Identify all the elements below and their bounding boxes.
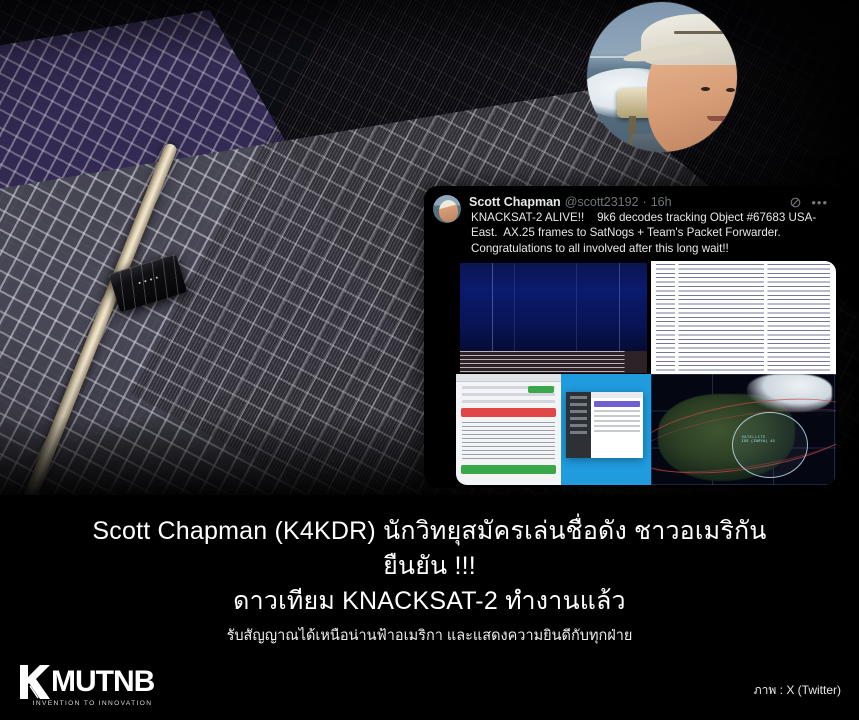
eye-right (726, 88, 735, 92)
caption-subline: รับสัญญาณได้เหนือน่านฟ้าอเมริกา และแสดงค… (0, 619, 859, 646)
caption-line-2: ยืนยัน !!! (0, 549, 859, 584)
image-credit: ภาพ : X (Twitter) (754, 681, 841, 700)
tweet-actions: ••• (789, 195, 828, 209)
satnogs-sidebar (566, 392, 591, 459)
satnogs-header (591, 392, 643, 398)
web-submit-button (528, 386, 554, 393)
caption-line-1: Scott Chapman (K4KDR) นักวิทยุสมัครเล่นช… (0, 495, 859, 549)
hexdump-terminal-pane (651, 261, 836, 374)
sdr-waterfall-pane (456, 261, 651, 374)
baseball-cap (641, 14, 737, 65)
kmutnb-logo: MUTNB INVENTION TO INNOVATION (20, 665, 154, 707)
waterfall-spectrum (460, 263, 647, 351)
web-row (462, 393, 555, 396)
cap-logo (674, 31, 725, 34)
web-log-lines (462, 422, 555, 460)
apps-pane (456, 374, 651, 485)
web-alert-error (461, 408, 556, 417)
satellite-footprint-circle (732, 412, 808, 478)
packet-forwarder-console (456, 374, 561, 485)
waterfall-console-strip (460, 351, 647, 372)
tweet-handle[interactable]: @scott23192 (565, 195, 639, 210)
eye-left (701, 87, 710, 91)
tweet-card[interactable]: Scott Chapman @scott23192 · 16h ••• KNAC… (424, 186, 838, 488)
tweet-avatar[interactable] (433, 195, 461, 223)
map-label-secondary: ISS (ZARYA) 42 (741, 440, 775, 444)
tweet-name-line: Scott Chapman @scott23192 · 16h (469, 195, 789, 210)
mouth (707, 116, 733, 121)
caption-line-3: ดาวเทียม KNACKSAT-2 ทำงานแล้ว (0, 584, 859, 619)
web-titlebar (456, 374, 561, 382)
web-alert-success (461, 465, 556, 474)
tweet-body-text: KNACKSAT-2 ALIVE!! 9k6 decodes tracking … (424, 209, 838, 256)
logo-main-row: MUTNB (20, 665, 154, 699)
more-options-icon[interactable]: ••• (811, 198, 828, 208)
web-row (462, 400, 555, 403)
ground-track-map-pane: SATELLITE ISS (ZARYA) 42 (651, 374, 836, 485)
caption-block: Scott Chapman (K4KDR) นักวิทยุสมัครเล่นช… (0, 495, 859, 655)
avatar (587, 2, 737, 152)
logo-wordmark: MUTNB (51, 667, 154, 697)
satnogs-highlight-row (594, 401, 640, 407)
map-satellite-label: SATELLITE ISS (ZARYA) 42 (741, 436, 775, 444)
tweet-separator: · (643, 195, 647, 210)
tweet-media-screenshot[interactable]: SATELLITE ISS (ZARYA) 42 (456, 261, 836, 485)
tweet-timestamp[interactable]: 16h (651, 195, 672, 210)
logo-tagline: INVENTION TO INNOVATION (20, 700, 154, 707)
satnogs-window (566, 392, 643, 459)
footer: MUTNB INVENTION TO INNOVATION ภาพ : X (T… (0, 655, 859, 720)
satnogs-dashboard (561, 374, 651, 485)
tweet-display-name[interactable]: Scott Chapman (469, 195, 561, 210)
grok-icon[interactable] (789, 196, 802, 209)
tweet-meta: Scott Chapman @scott23192 · 16h (469, 195, 789, 210)
kmutnb-k-logo-icon (20, 665, 50, 699)
satnogs-content (591, 392, 643, 459)
